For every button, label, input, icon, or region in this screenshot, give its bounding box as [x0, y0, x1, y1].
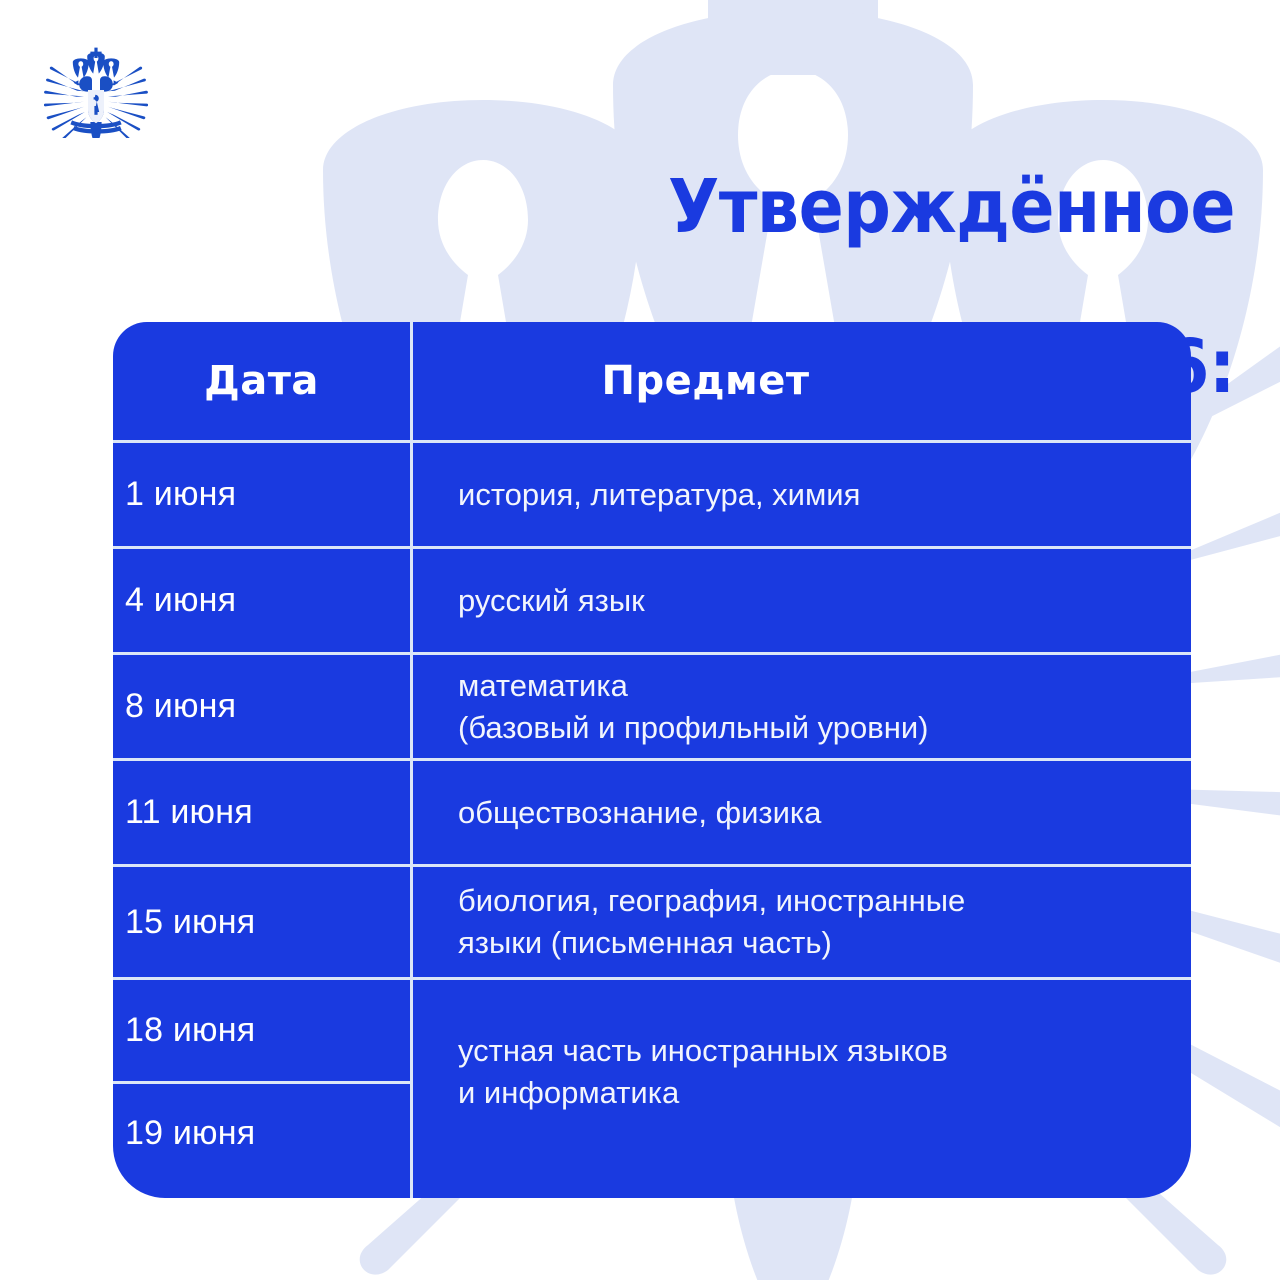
table-row-merged-group: 18 июня 19 июня устная часть иностранных… [113, 977, 1191, 1182]
subject-text: математика (базовый и профильный уровни) [458, 665, 929, 748]
cell-subject: обществознание, физика [410, 761, 1191, 864]
cell-subject-merged: устная часть иностранных языков и информ… [410, 980, 1191, 1182]
date-text: 19 июня [125, 1114, 255, 1153]
cell-subject: русский язык [410, 549, 1191, 652]
date-text: 15 июня [125, 903, 255, 942]
date-text: 4 июня [125, 581, 236, 620]
table-row: 15 июня биология, география, иностранные… [113, 864, 1191, 977]
table-row: 11 июня обществознание, физика [113, 758, 1191, 864]
date-text: 8 июня [125, 687, 236, 726]
date-text: 1 июня [125, 475, 236, 514]
cell-date: 15 июня [113, 867, 410, 977]
date-text: 11 июня [125, 793, 253, 832]
table-row: 8 июня математика (базовый и профильный … [113, 652, 1191, 758]
cell-date: 1 июня [113, 443, 410, 546]
table-row: 1 июня история, литература, химия [113, 440, 1191, 546]
cell-date: 19 июня [113, 1081, 410, 1182]
column-header-subject: Предмет [410, 322, 1191, 440]
subject-text: устная часть иностранных языков и информ… [458, 1033, 948, 1110]
merged-rows-block: 18 июня 19 июня устная часть иностранных… [113, 980, 1191, 1182]
cell-date: 18 июня [113, 980, 410, 1081]
subject-text: биология, география, иностранные языки (… [458, 880, 965, 963]
cell-subject: математика (базовый и профильный уровни) [410, 655, 1191, 758]
subject-text: история, литература, химия [458, 474, 860, 516]
cell-date: 4 июня [113, 549, 410, 652]
page-header: Утверждённое расписание ЕГЭ-2026: [0, 0, 1280, 310]
subject-text: обществознание, физика [458, 792, 821, 834]
cell-subject: история, литература, химия [410, 443, 1191, 546]
page-title-line-1: Утверждённое [0, 168, 1235, 248]
date-text: 18 июня [125, 1011, 255, 1050]
table-row: 4 июня русский язык [113, 546, 1191, 652]
column-header-date: Дата [113, 322, 410, 440]
cell-subject: биология, география, иностранные языки (… [410, 867, 1191, 977]
merged-date-column: 18 июня 19 июня [113, 980, 410, 1182]
table-header-row: Дата Предмет [113, 322, 1191, 440]
exam-schedule-table: Дата Предмет 1 июня история, литература,… [113, 322, 1191, 1198]
cell-date: 11 июня [113, 761, 410, 864]
column-divider [410, 322, 413, 1198]
cell-date: 8 июня [113, 655, 410, 758]
subject-text: русский язык [458, 580, 645, 622]
